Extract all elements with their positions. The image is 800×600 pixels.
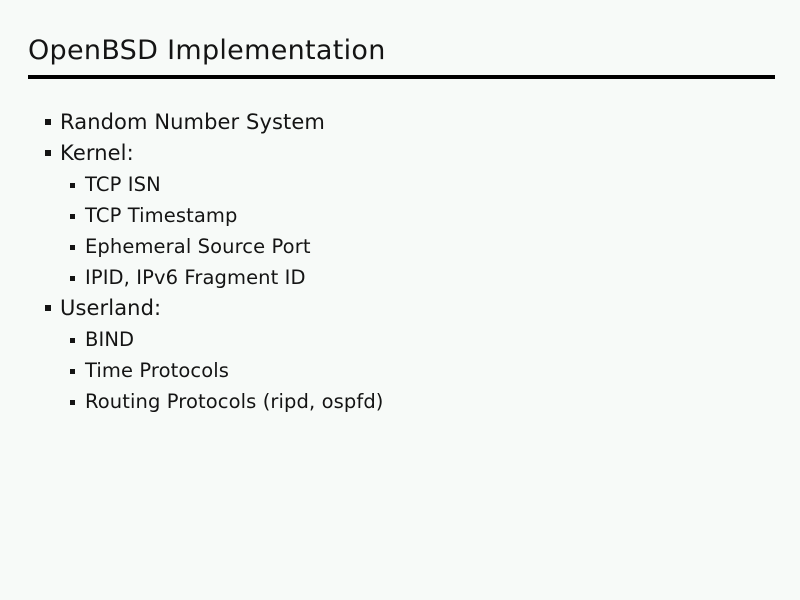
bullet-item-label: Time Protocols <box>85 356 229 385</box>
bullet-item-level-2: Ephemeral Source Port <box>0 232 800 263</box>
title-underline-rule <box>28 75 775 79</box>
square-bullet-icon <box>70 245 75 250</box>
bullet-item-label: Ephemeral Source Port <box>85 232 311 261</box>
bullet-item-label: TCP ISN <box>85 170 161 199</box>
bullet-item-label: Random Number System <box>60 108 325 137</box>
bullet-item-level-2: TCP ISN <box>0 170 800 201</box>
square-bullet-icon <box>45 119 51 125</box>
bullet-item-label: TCP Timestamp <box>85 201 238 230</box>
bullet-list: Random Number SystemKernel:TCP ISNTCP Ti… <box>0 108 800 418</box>
square-bullet-icon <box>45 305 51 311</box>
bullet-item-level-2: IPID, IPv6 Fragment ID <box>0 263 800 294</box>
slide-canvas: OpenBSD Implementation Random Number Sys… <box>0 0 800 600</box>
bullet-item-level-1: Random Number System <box>0 108 800 139</box>
square-bullet-icon <box>70 214 75 219</box>
square-bullet-icon <box>70 400 75 405</box>
bullet-item-level-1: Kernel: <box>0 139 800 170</box>
bullet-item-label: Kernel: <box>60 139 134 168</box>
bullet-item-level-1: Userland: <box>0 294 800 325</box>
slide-title-block: OpenBSD Implementation <box>28 34 776 68</box>
bullet-item-label: IPID, IPv6 Fragment ID <box>85 263 306 292</box>
page-title: OpenBSD Implementation <box>28 34 776 68</box>
square-bullet-icon <box>45 150 51 156</box>
bullet-item-label: BIND <box>85 325 134 354</box>
square-bullet-icon <box>70 183 75 188</box>
bullet-item-label: Userland: <box>60 294 161 323</box>
bullet-item-level-2: TCP Timestamp <box>0 201 800 232</box>
bullet-item-level-2: BIND <box>0 325 800 356</box>
bullet-item-label: Routing Protocols (ripd, ospfd) <box>85 387 384 416</box>
square-bullet-icon <box>70 338 75 343</box>
square-bullet-icon <box>70 276 75 281</box>
bullet-item-level-2: Time Protocols <box>0 356 800 387</box>
bullet-item-level-2: Routing Protocols (ripd, ospfd) <box>0 387 800 418</box>
square-bullet-icon <box>70 369 75 374</box>
